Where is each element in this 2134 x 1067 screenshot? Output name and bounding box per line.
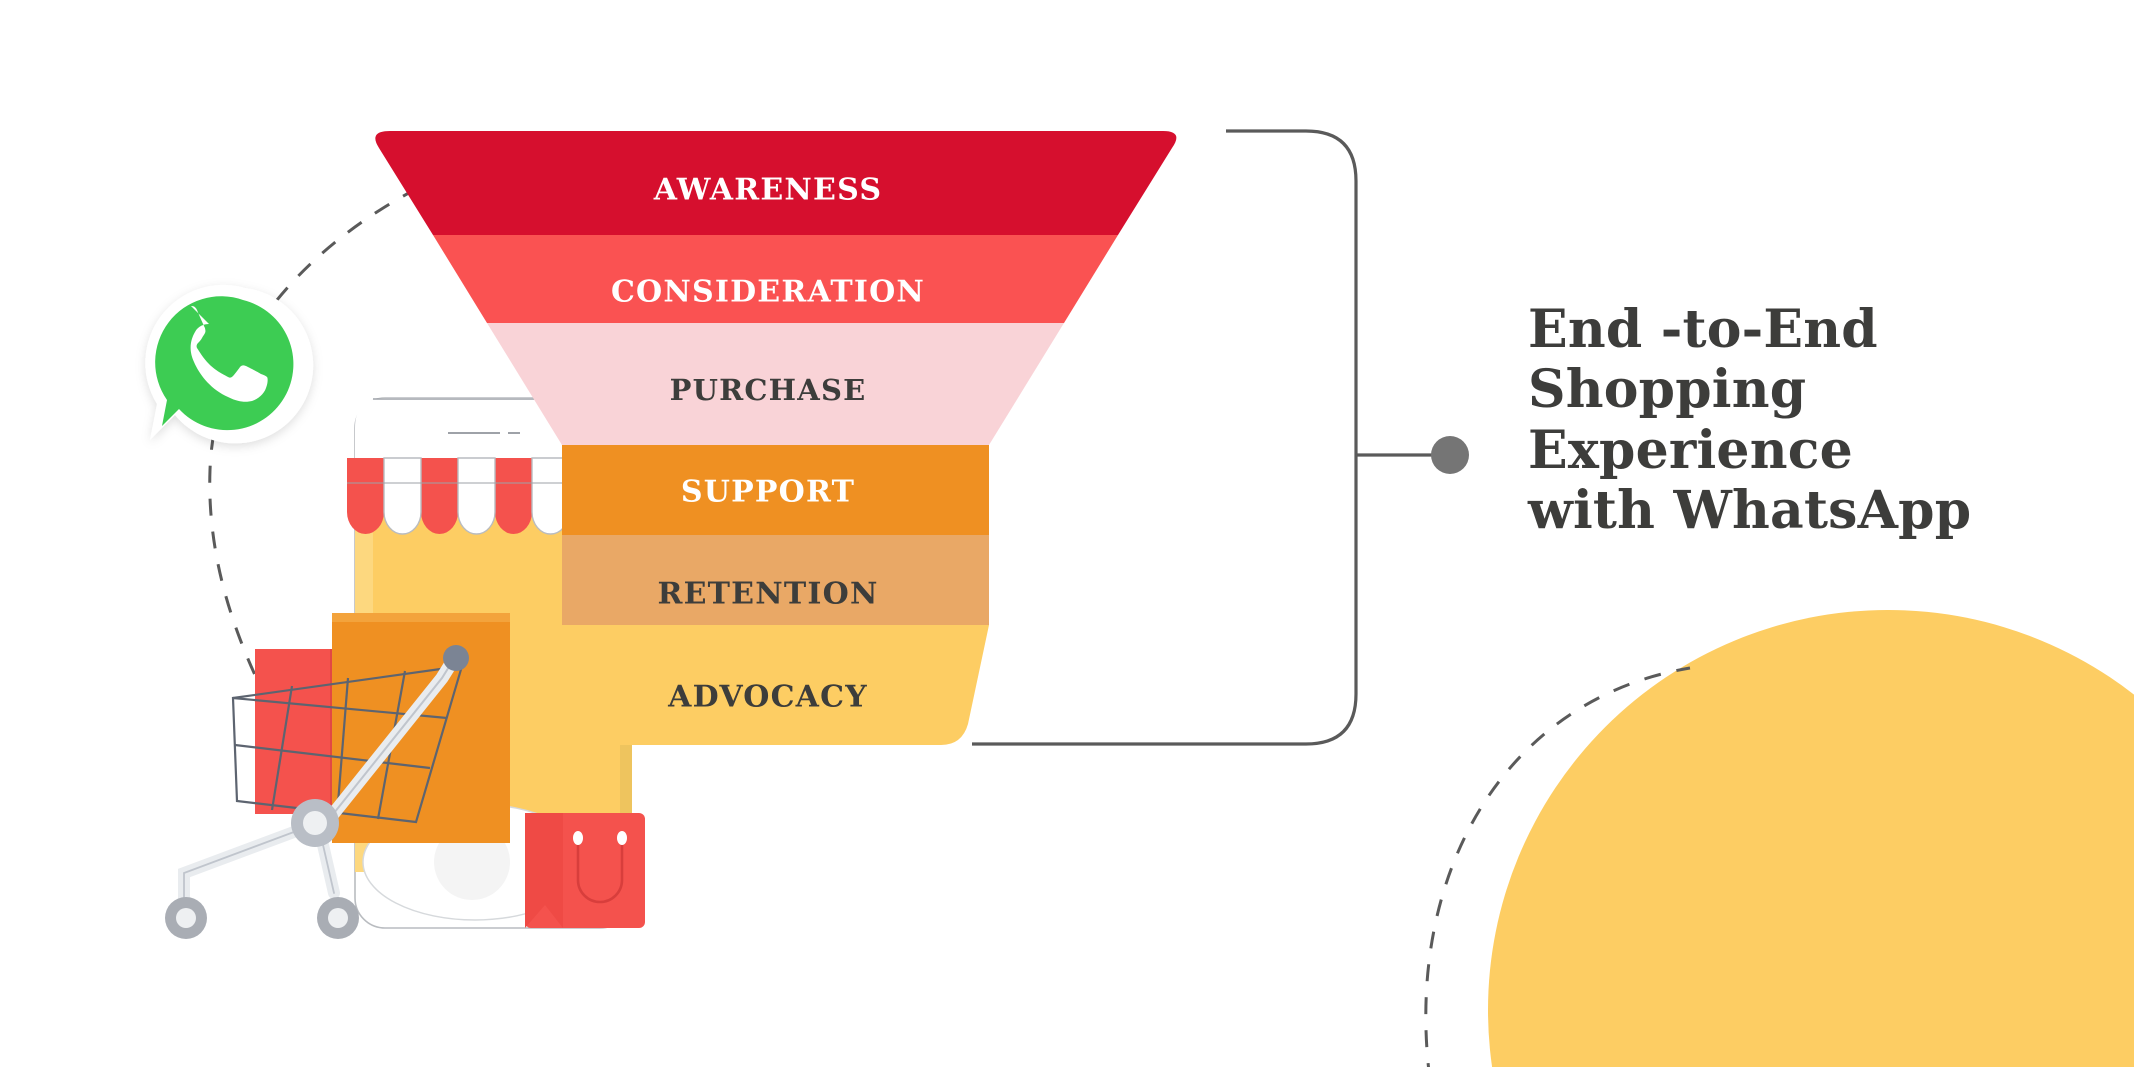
- funnel-band-purchase: [487, 323, 1064, 445]
- infographic-canvas: AWARENESS CONSIDERATION PURCHASE SUPPORT…: [0, 0, 2134, 1067]
- orange-box-top: [332, 613, 510, 622]
- bracket-node-dot: [1431, 436, 1469, 474]
- whatsapp-logo-icon: [145, 285, 313, 443]
- headline-line-4: with WhatsApp: [1528, 481, 2068, 541]
- headline-line-2: Shopping: [1528, 360, 2068, 420]
- shopping-bag-icon: [525, 813, 645, 928]
- funnel-band-awareness: [375, 131, 1176, 235]
- headline-line-1: End -to-End: [1528, 300, 2068, 360]
- funnel-band-advocacy: [562, 625, 989, 745]
- funnel-band-consideration: [433, 235, 1118, 323]
- funnel-band-support: [562, 445, 989, 535]
- funnel-band-retention: [562, 535, 989, 625]
- yellow-circle-decoration: [1488, 610, 2134, 1067]
- page-title: End -to-End Shopping Experience with Wha…: [1528, 300, 2068, 541]
- headline-line-3: Experience: [1528, 421, 2068, 481]
